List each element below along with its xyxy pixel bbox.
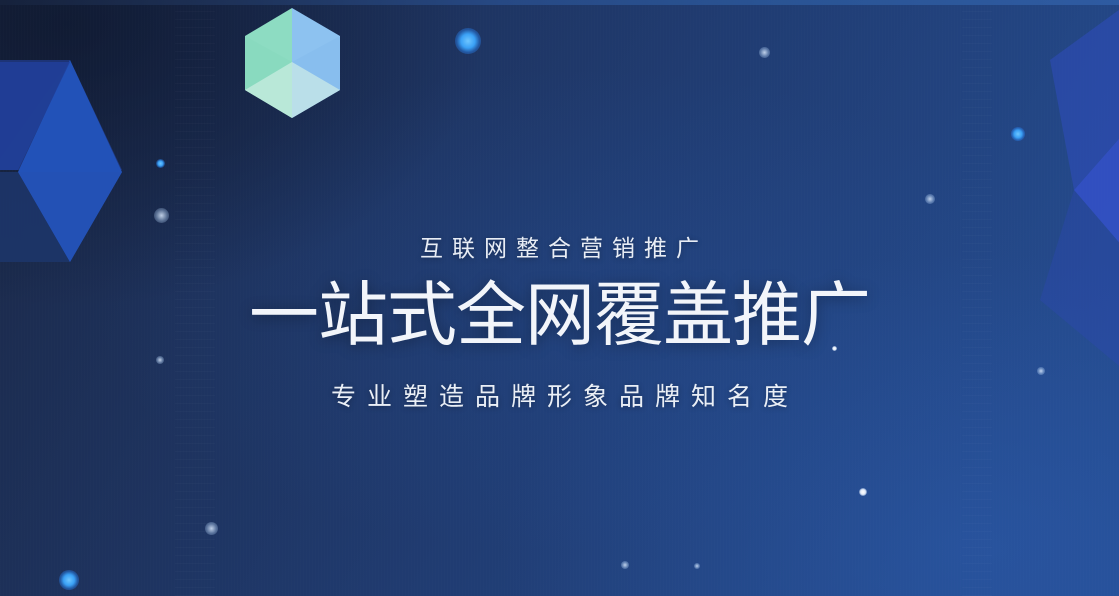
banner-headline: 一站式全网覆盖推广 bbox=[0, 276, 1119, 354]
banner-tagline: 专业塑造品牌形象品牌知名度 bbox=[0, 376, 1119, 418]
banner-eyebrow: 互联网整合营销推广 bbox=[0, 228, 1119, 268]
banner-stage: 互联网整合营销推广 一站式全网覆盖推广 专业塑造品牌形象品牌知名度 bbox=[0, 0, 1119, 596]
isometric-cube-logo bbox=[245, 8, 340, 118]
